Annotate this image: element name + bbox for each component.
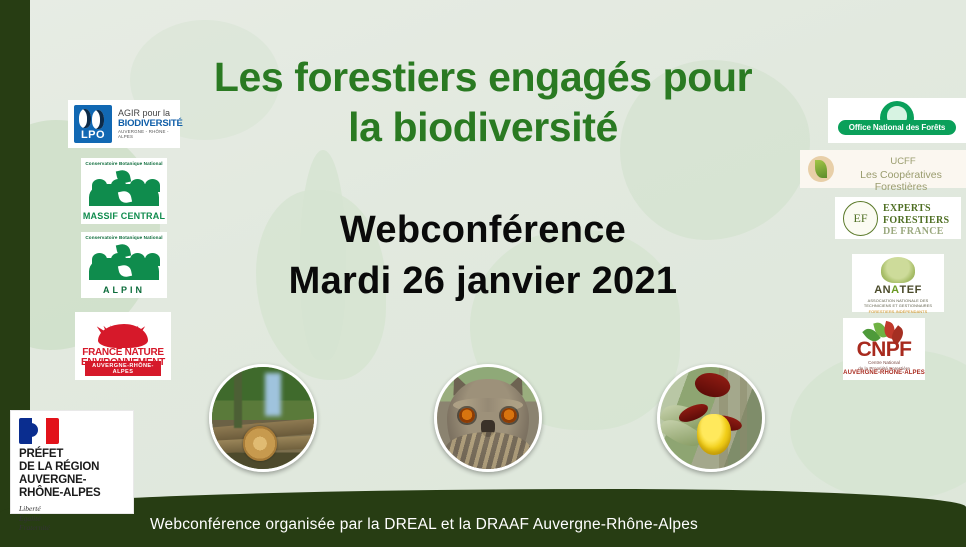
ucff-leaf-icon: [808, 156, 834, 182]
tree-trunk: [234, 367, 241, 428]
eff-name-line-3: DE FRANCE: [883, 226, 949, 238]
owl-eye-right: [501, 408, 516, 423]
anatef-subtitle-line-3: FORESTIERS INDÉPENDANTS: [869, 309, 928, 314]
forest-logs-photo: [209, 364, 317, 472]
logo-anatef: ANATEF ASSOCIATION NATIONALE DES TECHNIC…: [852, 254, 944, 312]
motto-fraternite: Fraternité: [19, 523, 125, 532]
cbn-massif-name: MASSIF CENTRAL: [81, 211, 167, 221]
lpo-agir-line: AGIR pour la: [118, 108, 183, 118]
prefet-title-line-2: DE LA RÉGION: [19, 461, 125, 474]
cbn-alpin-header: Conservatoire Botanique National: [81, 235, 167, 240]
anatef-acronym-part-2: A: [891, 284, 899, 296]
forest-logs-image: [212, 367, 314, 469]
cbn-massif-artwork: [89, 172, 159, 206]
cnpf-acronym: CNPF: [843, 338, 925, 362]
logo-cbn-alpin: Conservatoire Botanique National ALPIN: [81, 232, 167, 298]
motto-liberte: Liberté: [19, 504, 125, 513]
owl-chest-plumage: [445, 432, 531, 469]
logo-cbn-massif-central: Conservatoire Botanique National MASSIF …: [81, 158, 167, 224]
onf-label: Office National des Forêts: [838, 120, 956, 135]
ucff-tagline: Les Coopératives Forestières: [840, 169, 962, 193]
cbn-massif-header: Conservatoire Botanique National: [81, 161, 167, 166]
prefet-title-line-1: PRÉFET: [19, 448, 125, 461]
lpo-region-line: AUVERGNE - RHÔNE - ALPES: [118, 129, 183, 139]
lpo-agir-strong: AGIR: [118, 108, 140, 118]
lpo-acronym: LPO: [74, 129, 112, 141]
ladys-slipper-orchid-photo: [657, 364, 765, 472]
log-cut-face: [243, 426, 278, 461]
anatef-acronym: ANATEF: [852, 284, 944, 296]
anatef-acronym-part-3: TEF: [900, 284, 922, 296]
flag-blue-band: [19, 418, 32, 444]
anatef-subtitle: ASSOCIATION NATIONALE DES TECHNICIENS ET…: [856, 298, 940, 314]
logo-prefet-region: PRÉFET DE LA RÉGION AUVERGNE- RHÔNE-ALPE…: [10, 410, 134, 514]
orchid-bg-trunk-b: [740, 367, 747, 469]
onf-artwork: Office National des Forêts: [838, 101, 956, 139]
cnpf-region: AUVERGNE-RHÔNE-ALPES: [843, 370, 925, 376]
lpo-biodiversite-line: BIODIVERSITÉ: [118, 118, 183, 129]
banner-organizer-text: Webconférence organisée par la DREAL et …: [150, 516, 698, 534]
fne-region-band: AUVERGNE-RHÔNE-ALPES: [85, 361, 161, 376]
french-flag-marianne-icon: [19, 418, 59, 444]
prefet-title: PRÉFET DE LA RÉGION AUVERGNE- RHÔNE-ALPE…: [19, 448, 125, 500]
lpo-badge-icon: LPO: [74, 105, 112, 143]
flag-red-band: [46, 418, 59, 444]
cbn-alpin-name: ALPIN: [81, 285, 167, 295]
title-line-1: Les forestiers engagés pour: [0, 52, 966, 102]
eff-name: EXPERTS FORESTIERS DE FRANCE: [883, 203, 949, 238]
logo-lpo: LPO AGIR pour la BIODIVERSITÉ AUVERGNE -…: [68, 100, 180, 148]
eff-seal-icon: [843, 201, 878, 236]
anatef-acronym-part-1: AN: [874, 284, 891, 296]
logo-office-national-des-forets: Office National des Forêts: [828, 98, 966, 143]
owl-eye-left: [459, 408, 474, 423]
eagle-owl-photo: [434, 364, 542, 472]
ladys-slipper-orchid-image: [660, 367, 762, 469]
cbn-alpin-artwork: [89, 246, 159, 280]
lpo-agir-rest: pour la: [140, 108, 170, 118]
logo-cnpf: CNPF Centre National de la Propriété For…: [843, 318, 925, 380]
anatef-tree-icon: [881, 257, 915, 283]
logo-ucff: UCFF Les Coopératives Forestières: [800, 150, 966, 188]
prefet-title-line-3: AUVERGNE-: [19, 474, 125, 487]
hedgehog-icon: [94, 316, 152, 348]
eff-name-line-2: FORESTIERS: [883, 215, 949, 227]
puffin-icon-2: [92, 110, 104, 129]
eagle-owl-image: [437, 367, 539, 469]
prefet-title-line-4: RHÔNE-ALPES: [19, 487, 125, 500]
presentation-slide: Les forestiers engagés pour la biodivers…: [0, 0, 966, 547]
lpo-text-block: AGIR pour la BIODIVERSITÉ AUVERGNE - RHÔ…: [118, 108, 183, 139]
motto-egalite: Égalité: [19, 514, 125, 523]
logo-experts-forestiers-de-france: EXPERTS FORESTIERS DE FRANCE: [835, 197, 961, 239]
puffin-icon-1: [79, 109, 91, 128]
republic-motto: Liberté Égalité Fraternité: [19, 504, 125, 532]
sky-patch: [265, 373, 281, 416]
logo-france-nature-environnement: FRANCE NATURE ENVIRONNEMENT AUVERGNE-RHÔ…: [75, 312, 171, 380]
orchid-yellow-lip: [697, 414, 732, 455]
ucff-acronym: UCFF: [846, 156, 960, 167]
eff-name-line-1: EXPERTS: [883, 203, 949, 215]
